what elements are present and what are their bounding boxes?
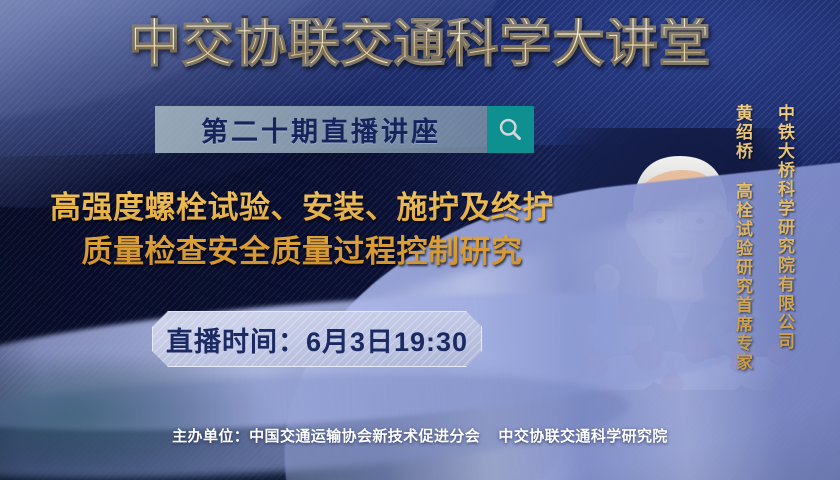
episode-bar: 第二十期直播讲座 — [155, 106, 534, 153]
speaker-organization: 中铁大桥科学研究院有限公司 — [772, 104, 797, 372]
lecture-headline: 高强度螺栓试验、安装、施拧及终拧 质量检查安全质量过程控制研究 — [8, 186, 596, 274]
headline-line-1: 高强度螺栓试验、安装、施拧及终拧 — [50, 190, 554, 225]
broadcast-time-box: 直播时间：6月3日19:30 — [152, 311, 482, 367]
search-icon-box[interactable] — [487, 106, 534, 153]
broadcast-time-label: 直播时间：6月3日19:30 — [166, 320, 468, 359]
speaker-name-and-role: 黄绍桥 高栓试验研究首席专家 — [730, 104, 755, 372]
search-icon — [497, 116, 524, 143]
page-title: 中交协联交通科学大讲堂 — [0, 18, 840, 70]
episode-bar-fill: 第二十期直播讲座 — [155, 106, 487, 153]
headline-line-2: 质量检查安全质量过程控制研究 — [8, 230, 596, 274]
episode-label: 第二十期直播讲座 — [201, 110, 441, 149]
organizer-footer: 主办单位：中国交通运输协会新技术促进分会 中交协联交通科学研究院 — [0, 425, 840, 446]
webinar-poster: 中交协联交通科学大讲堂 第二十期直播讲座 高强度螺栓试验、安装、施拧及终拧 质量… — [0, 0, 840, 480]
teal-glow-bottom-left — [0, 360, 290, 470]
